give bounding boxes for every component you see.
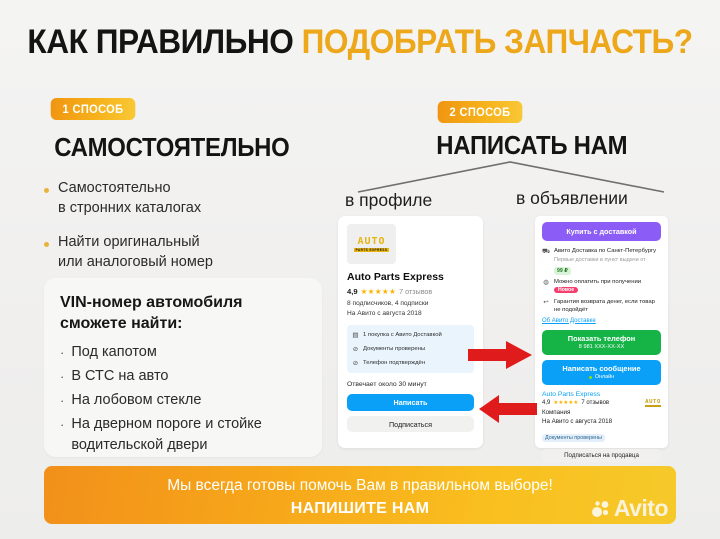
vin-list-item: · На лобовом стекле [60, 390, 306, 411]
list-item: Найти оригинальный или аналоговый номер [44, 232, 314, 272]
poster-canvas: КАК ПРАВИЛЬНО ПОДОБРАТЬ ЗАПЧАСТЬ? 1 СПОС… [0, 0, 720, 539]
buy-with-delivery-button[interactable]: Купить с доставкой [542, 222, 661, 241]
about-delivery-link[interactable]: Об Авито Доставке [542, 318, 661, 324]
red-arrow-right [466, 340, 534, 370]
footer-banner: Мы всегда готовы помочь Вам в правильном… [44, 466, 676, 524]
badge-label: Телефон подтверждён [363, 360, 425, 366]
new-badge: Новое [554, 287, 578, 293]
step-2-badge: 2 СПОСОБ [438, 101, 523, 123]
vin-list-item: · Под капотом [60, 342, 306, 363]
wallet-icon: ◍ [542, 278, 550, 295]
profile-rating-row: 4,9 ★★★★★ 7 отзывов [347, 287, 474, 296]
show-phone-label: Показать телефон [568, 334, 635, 343]
delivery-line: Гарантия возврата денег, если товар [554, 299, 655, 305]
sub-label-ad: в объявлении [516, 188, 628, 209]
avatar-logo-bottom: PARTS EXPRESS [354, 248, 390, 252]
subscribe-to-seller-button[interactable]: Подписаться на продавца [542, 449, 661, 462]
list-item: Самостоятельно в стронних каталогах [44, 178, 314, 218]
delivery-sub: Первые доставки в пункт выдачи от 99 ₽ [554, 256, 661, 275]
vin-info-card: VIN-номер автомобиля сможете найти: · По… [44, 278, 322, 457]
list-item: ▤ 1 покупка с Авито Доставкой [351, 328, 470, 342]
badge-label: 1 покупка с Авито Доставкой [363, 332, 442, 338]
write-message-button[interactable]: Написать [347, 394, 474, 411]
vin-item-label: На дверном пороге и стойке водительской … [71, 414, 261, 456]
delivery-text: Можно оплатить при получении Новое [554, 278, 661, 295]
check-circle-icon: ⊘ [352, 359, 359, 367]
ad-seller-block: AUTO Auto Parts Express 4,9 ★★★★★ 7 отзы… [542, 391, 661, 444]
bullet-text: Самостоятельно в стронних каталогах [58, 178, 201, 218]
badge-label: Документы проверены [363, 346, 425, 352]
seller-name-link[interactable]: Auto Parts Express [542, 391, 661, 398]
vin-item-label: Под капотом [71, 342, 157, 363]
subscribe-button[interactable]: Подписаться [347, 416, 474, 432]
reviews-link[interactable]: 7 отзывов [581, 400, 609, 406]
profile-member-since: На Авито с августа 2018 [347, 309, 474, 319]
list-item: ⊘ Документы проверены [351, 342, 470, 356]
bullet-line: Самостоятельно [58, 180, 171, 196]
seller-logo: AUTO [645, 399, 661, 407]
avito-ad-card: Купить с доставкой ⛟ Авито Доставка по С… [535, 216, 668, 448]
footer-line-2: НАПИШИТЕ НАМ [44, 500, 676, 518]
avatar: AUTO PARTS EXPRESS [347, 224, 396, 264]
delivery-text: Авито Доставка по Санкт-Петербургу Первы… [554, 247, 661, 275]
profile-followers: 8 подписчиков, 4 подписки [347, 299, 474, 309]
delivery-main: Авито Доставка по Санкт-Петербургу [554, 248, 656, 254]
avito-wordmark: Avito [614, 495, 668, 522]
vin-heading-line: VIN-номер автомобиля [60, 294, 243, 311]
reviews-link[interactable]: 7 отзывов [399, 287, 432, 296]
avito-logo-icon [591, 499, 611, 519]
sub-label-profile: в профиле [345, 190, 432, 211]
step-1-badge: 1 СПОСОБ [51, 98, 136, 120]
delivery-box-icon: ▤ [352, 331, 359, 339]
footer-line-1: Мы всегда готовы помочь Вам в правильном… [44, 477, 676, 495]
bullet-dot-icon: · [60, 342, 64, 363]
step-2-title: НАПИСАТЬ НАМ [436, 130, 627, 161]
bullet-text: Найти оригинальный или аналоговый номер [58, 232, 213, 272]
star-rating-icon: ★★★★★ [361, 287, 397, 296]
page-title-amber: ПОДОБРАТЬ ЗАПЧАСТЬ? [302, 23, 693, 61]
page-title-dark: КАК ПРАВИЛЬНО [27, 23, 293, 61]
show-phone-button[interactable]: Показать телефон 8 981 XXX-XX-XX [542, 330, 661, 355]
bullet-dot-icon: · [60, 390, 64, 411]
delivery-text: Гарантия возврата денег, если товар не п… [554, 298, 655, 315]
star-rating-icon: ★★★★★ [553, 400, 578, 406]
profile-response-time: Отвечает около 30 минут [347, 381, 474, 388]
list-item: ⛟ Авито Доставка по Санкт-Петербургу Пер… [542, 247, 661, 275]
left-bullet-list: Самостоятельно в стронних каталогах Найт… [44, 178, 314, 286]
vin-list-item: · В СТС на авто [60, 366, 306, 387]
price-tag: 99 ₽ [554, 267, 571, 275]
bullet-line: или аналоговый номер [58, 254, 213, 270]
list-item: ↩ Гарантия возврата денег, если товар не… [542, 298, 661, 315]
online-status: Онлайн [589, 374, 614, 380]
vin-item-line: На дверном пороге и стойке [71, 416, 261, 432]
vin-item-label: На лобовом стекле [71, 390, 201, 411]
truck-icon: ⛟ [542, 247, 550, 275]
vin-card-heading: VIN-номер автомобиля сможете найти: [60, 292, 306, 334]
bullet-line: в стронних каталогах [58, 200, 201, 216]
bullet-line: Найти оригинальный [58, 234, 200, 250]
seller-member-since: На Авито с августа 2018 [542, 417, 661, 426]
vin-item-label: В СТС на авто [71, 366, 168, 387]
send-message-button[interactable]: Написать сообщение Онлайн [542, 360, 661, 385]
profile-shop-name: Auto Parts Express [347, 271, 474, 283]
vin-heading-line: сможете найти: [60, 315, 182, 332]
bullet-dot-icon: · [60, 366, 64, 387]
avito-profile-card: AUTO PARTS EXPRESS Auto Parts Express 4,… [338, 216, 483, 448]
delivery-line: не подойдёт [554, 307, 588, 313]
online-status-label: Онлайн [595, 374, 614, 380]
vin-list-item: · На дверном пороге и стойке водительско… [60, 414, 306, 456]
step-1-title: САМОСТОЯТЕЛЬНО [54, 132, 289, 163]
vin-item-line: водительской двери [71, 437, 207, 453]
list-item: ◍ Можно оплатить при получении Новое [542, 278, 661, 295]
bullet-dot-icon: · [60, 414, 64, 456]
avatar-logo-top: AUTO [357, 237, 385, 247]
rating-value: 4,9 [542, 400, 550, 406]
profile-badge-list: ▤ 1 покупка с Авито Доставкой ⊘ Документ… [347, 325, 474, 373]
status-badge: Документы проверены [542, 434, 605, 442]
return-icon: ↩ [542, 298, 550, 315]
page-title: КАК ПРАВИЛЬНО ПОДОБРАТЬ ЗАПЧАСТЬ? [25, 22, 695, 62]
delivery-main: Можно оплатить при получении [554, 279, 641, 285]
avito-watermark: Avito [591, 495, 668, 522]
bullet-dot-icon [44, 242, 49, 247]
seller-rating-row: 4,9 ★★★★★ 7 отзывов [542, 400, 661, 406]
rating-value: 4,9 [347, 287, 358, 296]
delivery-info-block: ⛟ Авито Доставка по Санкт-Петербургу Пер… [542, 247, 661, 324]
send-message-label: Написать сообщение [562, 364, 640, 373]
red-arrow-left [477, 394, 539, 424]
bullet-dot-icon [44, 188, 49, 193]
online-dot-icon [589, 376, 592, 379]
delivery-sub-text: Первые доставки в пункт выдачи от [554, 256, 646, 264]
list-item: ⊘ Телефон подтверждён [351, 356, 470, 370]
check-circle-icon: ⊘ [352, 345, 359, 353]
phone-number: 8 981 XXX-XX-XX [579, 344, 624, 350]
seller-type: Компания [542, 408, 661, 417]
